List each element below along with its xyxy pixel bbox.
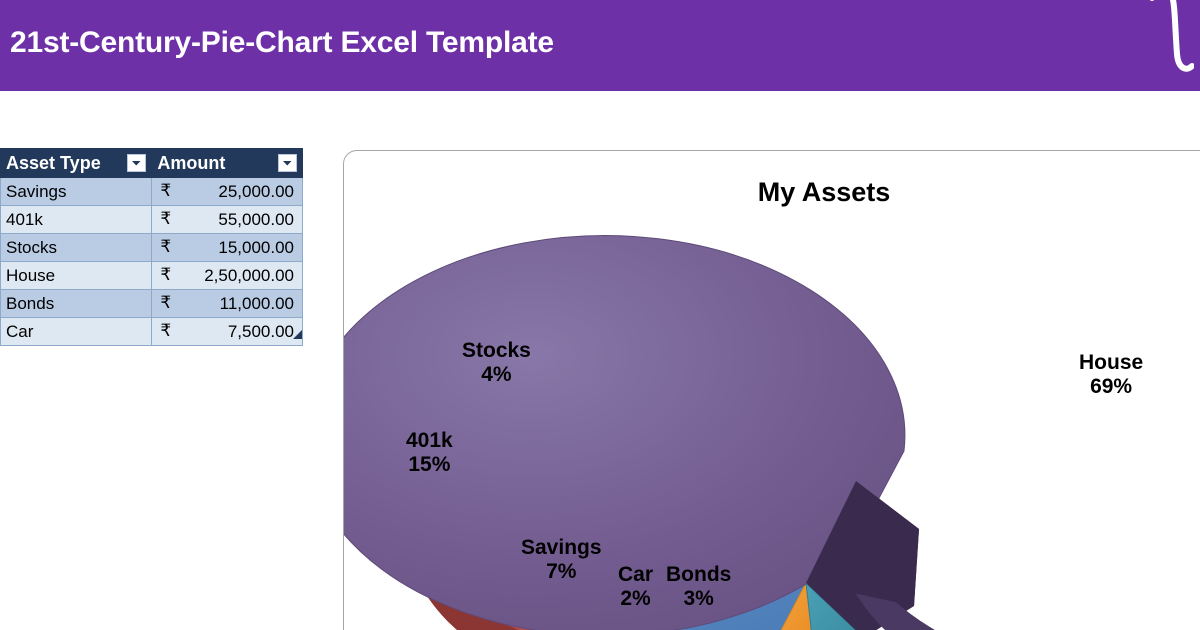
cell-asset-type: House xyxy=(1,262,152,290)
cell-amount: ₹ 11,000.00 xyxy=(152,290,303,318)
pie-chart-svg xyxy=(344,151,1200,630)
table-row[interactable]: House ₹ 2,50,000.00 xyxy=(1,262,303,290)
cell-amount-value: 11,000.00 xyxy=(220,294,294,313)
swoosh-mark-icon xyxy=(1142,0,1194,80)
cell-asset-type: 401k xyxy=(1,206,152,234)
cell-amount: ₹ 15,000.00 xyxy=(152,234,303,262)
currency-symbol: ₹ xyxy=(160,234,171,260)
table-body: Savings ₹ 25,000.00 401k ₹ 55,000.00 Sto… xyxy=(1,178,303,346)
cell-asset-type: Bonds xyxy=(1,290,152,318)
cell-amount-value: 7,500.00 xyxy=(228,322,294,341)
cell-asset-type: Stocks xyxy=(1,234,152,262)
column-header-amount[interactable]: Amount xyxy=(152,149,303,178)
cell-amount-value: 55,000.00 xyxy=(218,210,294,229)
currency-symbol: ₹ xyxy=(160,206,171,232)
column-header-asset-type-label: Asset Type xyxy=(6,150,101,176)
cell-asset-type: Savings xyxy=(1,178,152,206)
cell-amount: ₹ 55,000.00 xyxy=(152,206,303,234)
filter-dropdown-icon-asset-type[interactable] xyxy=(127,154,146,172)
currency-symbol: ₹ xyxy=(160,318,171,344)
column-header-asset-type[interactable]: Asset Type xyxy=(1,149,152,178)
table-row[interactable]: 401k ₹ 55,000.00 xyxy=(1,206,303,234)
header-bar: 21st-Century-Pie-Chart Excel Template xyxy=(0,0,1200,91)
currency-symbol: ₹ xyxy=(160,262,171,288)
page-root: 21st-Century-Pie-Chart Excel Template As… xyxy=(0,0,1200,630)
column-header-amount-label: Amount xyxy=(157,150,225,176)
cell-amount-value: 2,50,000.00 xyxy=(204,266,294,285)
table-header-row: Asset Type Amount xyxy=(1,149,303,178)
currency-symbol: ₹ xyxy=(160,290,171,316)
table-row[interactable]: Car ₹ 7,500.00 xyxy=(1,318,303,346)
currency-symbol: ₹ xyxy=(160,178,171,204)
cell-amount: ₹ 7,500.00 xyxy=(152,318,303,346)
pie-chart-3d xyxy=(344,151,1200,630)
cell-amount-value: 15,000.00 xyxy=(218,238,294,257)
chart-container[interactable]: My Assets xyxy=(343,150,1200,630)
cell-amount-value: 25,000.00 xyxy=(218,182,294,201)
cell-amount: ₹ 2,50,000.00 xyxy=(152,262,303,290)
asset-table: Asset Type Amount xyxy=(0,148,303,346)
table-row[interactable]: Bonds ₹ 11,000.00 xyxy=(1,290,303,318)
cell-amount: ₹ 25,000.00 xyxy=(152,178,303,206)
cell-asset-type: Car xyxy=(1,318,152,346)
table-row[interactable]: Savings ₹ 25,000.00 xyxy=(1,178,303,206)
table-row[interactable]: Stocks ₹ 15,000.00 xyxy=(1,234,303,262)
page-title: 21st-Century-Pie-Chart Excel Template xyxy=(10,26,554,60)
filter-dropdown-icon-amount[interactable] xyxy=(278,154,297,172)
